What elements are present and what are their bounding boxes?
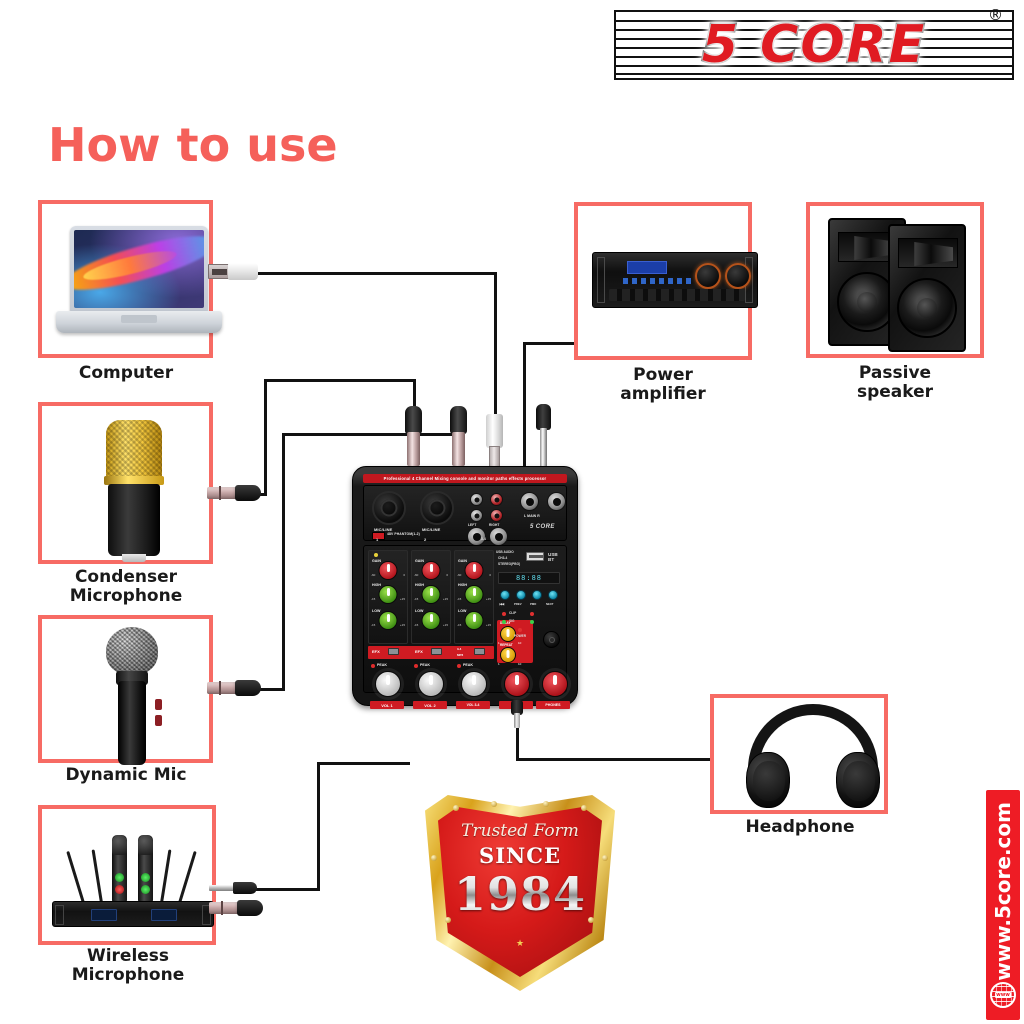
speaker-woofer-right (897, 278, 957, 338)
rca-jack-left[interactable] (470, 509, 483, 522)
label-main-out: L MAIN R (524, 514, 540, 518)
usb-button-label-2: PMD (530, 602, 536, 606)
website-url: www.5core.com (991, 802, 1015, 981)
usb-button-next[interactable] (548, 590, 558, 600)
wire-condenser-h2 (264, 379, 416, 382)
tick-low-max-2: +15 (443, 623, 448, 627)
device-box-condenser-microphone[interactable] (38, 402, 213, 564)
wire-dynamic-h2 (282, 433, 461, 436)
tick-high-min-2: -15 (414, 597, 418, 601)
tick-low-max-1: +15 (400, 623, 405, 627)
headphone-icon (740, 704, 886, 804)
badge-rivet-3 (543, 801, 549, 807)
usb-plug-shell (208, 264, 230, 279)
wire-wireless-v (317, 762, 320, 891)
input-jack-mic-line-2[interactable] (420, 491, 454, 525)
laptop-base (56, 311, 222, 333)
tick-high-max-3: +15 (486, 597, 491, 601)
xlr-v-barrel (452, 432, 465, 466)
label-high-3: HIGH (458, 583, 467, 587)
wire-condenser-drop (413, 379, 416, 407)
brand-logo: 5 CORE (614, 10, 1014, 80)
label-sig: SIG (509, 619, 515, 623)
xlr-barrel (207, 682, 237, 694)
usb-button-prev-track[interactable] (500, 590, 510, 600)
device-label-computer: Computer (11, 364, 241, 383)
trust-badge: Trusted Form SINCE 1984 ★ (425, 795, 615, 991)
device-box-power-amplifier[interactable] (574, 202, 752, 360)
label-high-2: HIGH (415, 583, 424, 587)
laptop-wallpaper (74, 230, 204, 308)
label-power: POWER (514, 634, 526, 638)
globe-www-icon (990, 982, 1016, 1008)
tick-high-min-1: -15 (371, 597, 375, 601)
tick-low-min-3: -15 (457, 623, 461, 627)
power-led (518, 628, 522, 632)
device-box-headphone[interactable] (710, 694, 888, 814)
knob-vol-2[interactable] (418, 671, 444, 697)
dynamic-mic-switch-2 (155, 715, 162, 726)
xlr-boot (235, 485, 261, 501)
tick-gain-max-2: 0 (446, 573, 448, 577)
xlr-connector-vertical-1 (405, 406, 422, 466)
tick-gain-max-1: 0 (403, 573, 405, 577)
power-amp-chassis (592, 252, 758, 308)
antenna-3 (160, 849, 171, 903)
amp-ear-left (597, 257, 605, 303)
device-box-computer[interactable] (38, 200, 213, 358)
mixer-input-panel: MIC/LINE MIC/LINE 48V PHANTOM(1-2) 1 2 L… (363, 485, 567, 541)
label-rca-channel: 3-4 (481, 537, 486, 541)
label-efx-2: EFX (415, 649, 423, 654)
knob-low-3[interactable] (465, 611, 484, 630)
wire-wireless-h2 (317, 762, 410, 765)
wire-amp-v (523, 342, 526, 470)
usb-v-body (486, 414, 503, 448)
efx-switch-3[interactable] (474, 648, 485, 655)
amp-knob-volume (725, 263, 751, 289)
usb-display: 88:88 (498, 572, 560, 584)
tick-high-max-2: +15 (443, 597, 448, 601)
device-label-condenser-microphone: Condenser Microphone (11, 568, 241, 606)
amp-knob-bass (695, 263, 721, 289)
usb-button-pmd[interactable] (532, 590, 542, 600)
label-usb-mode-1: CH3-4 (498, 556, 507, 560)
condenser-foot (122, 554, 146, 562)
phantom-power-switch[interactable] (372, 532, 385, 540)
condenser-mic-icon (90, 420, 176, 565)
device-box-wireless-microphone[interactable] (38, 805, 216, 945)
jack-v-boot (536, 404, 551, 430)
handheld-mic-2 (138, 835, 153, 903)
xlr-plug-dynamic-icon (207, 680, 261, 696)
wire-headphone-h (516, 758, 713, 761)
main-out-jack-right[interactable] (547, 492, 566, 511)
laptop-screen (70, 226, 208, 312)
channel-strip-1: GAIN -60 0 HIGH -15 +15 LOW -15 +15 (368, 550, 408, 644)
handheld-led-green-2 (141, 873, 150, 882)
rack-display-2 (151, 909, 177, 921)
label-usb-mode-2: STEREO(PBO) (498, 562, 520, 566)
antenna-2 (92, 849, 103, 903)
antenna-4 (178, 851, 197, 904)
usb-port[interactable] (526, 552, 544, 561)
logo-wordmark: 5 CORE (614, 10, 1014, 80)
knob-vol-1[interactable] (375, 671, 401, 697)
channel-strip-3-4: GAIN -60 0 HIGH -15 +15 LOW -15 +15 (454, 550, 494, 644)
xlr-boot (235, 680, 261, 696)
usb-a-plug-icon (208, 263, 258, 281)
tick-repeat-min: 1 (498, 662, 500, 666)
badge-rivet-4 (581, 805, 587, 811)
tick-gain-min-1: -60 (371, 573, 375, 577)
xlr-barrel (207, 487, 237, 499)
trs-jack-3-4-right[interactable] (489, 527, 508, 546)
tick-low-min-1: -15 (371, 623, 375, 627)
mixer-brand-plate: 5 CORE (530, 524, 555, 530)
ts-quarter-inch-plug-icon (209, 882, 257, 894)
usb-bluetooth-section: USB AUDIO CH3-4 STEREO(PBO) USB BT 88:88… (496, 550, 562, 644)
website-banner[interactable]: www.5core.com (986, 790, 1020, 1020)
handheld-led-green-3 (141, 885, 150, 894)
badge-since-text: SINCE (425, 843, 615, 868)
handheld-led-red-1 (115, 885, 124, 894)
usb-plug-body (228, 263, 258, 280)
knob-low-2[interactable] (422, 611, 441, 630)
dynamic-mic-switch (155, 699, 162, 710)
label-clip: CLIP (509, 611, 516, 615)
rack-display-1 (91, 909, 117, 921)
label-vol-3-4: VOL 3-4 (456, 701, 490, 709)
rca-jack-left-top[interactable] (470, 493, 483, 506)
xlr-barrel (209, 902, 239, 914)
xlr-plug-condenser-icon (207, 485, 261, 501)
power-amp-icon (592, 252, 758, 308)
xlr-v-barrel (407, 432, 420, 466)
ts-boot (233, 882, 257, 894)
mixer-control-panel: GAIN -60 0 HIGH -15 +15 LOW -15 +15 GAIN… (363, 545, 567, 693)
tick-low-min-2: -15 (414, 623, 418, 627)
page-title: How to use (48, 118, 338, 172)
phones-plug-tip (514, 713, 520, 728)
channel-1-led (374, 553, 378, 557)
device-label-dynamic-mic: Dynamic Mic (11, 766, 241, 785)
device-label-wireless-microphone: Wireless Microphone (13, 947, 243, 985)
dynamic-mic-icon (92, 627, 172, 767)
xlr-v-boot (405, 406, 422, 434)
wire-dynamic-v (282, 433, 285, 691)
badge-trusted-text: Trusted Form (425, 821, 615, 841)
knob-gain-3[interactable] (465, 561, 484, 580)
label-channel-1-number: 1 (376, 537, 378, 542)
label-high-1: HIGH (372, 583, 381, 587)
power-switch-knob[interactable] (543, 631, 560, 648)
mixer-console[interactable]: Professional 4 Channel Mixing console an… (352, 466, 578, 706)
clip-led-right (530, 612, 534, 616)
speaker-horn-right (898, 238, 958, 268)
usb-v-shell (489, 446, 500, 468)
label-gain-1: GAIN (372, 559, 381, 563)
label-vol-1: VOL 1 (370, 701, 404, 709)
usb-button-label-0: |◀◀ (499, 602, 504, 606)
infographic-canvas: 5 CORE ® How to use Computer (0, 0, 1024, 1024)
knob-high-2[interactable] (422, 585, 441, 604)
peak-led-3 (457, 664, 461, 668)
usb-button-label-3: NEXT (546, 602, 553, 606)
label-mic-line-2: MIC/LINE (422, 527, 440, 532)
xlr-v-boot (450, 406, 467, 434)
registered-trademark-icon: ® (988, 6, 1022, 24)
amp-lcd-display (627, 261, 667, 274)
peak-led-1 (371, 664, 375, 668)
label-vol-2: VOL 2 (413, 701, 447, 709)
xlr-plug-wireless-icon (209, 900, 263, 916)
handheld-led-green-1 (115, 873, 124, 882)
knob-gain-2[interactable] (422, 561, 441, 580)
tick-repeat-max: 10 (518, 662, 521, 666)
clip-led-left (502, 612, 506, 616)
label-phones: PHONES (536, 701, 570, 709)
xlr-connector-vertical-2 (450, 406, 467, 466)
amp-control-row (609, 289, 745, 301)
knob-main[interactable] (504, 671, 530, 697)
label-low-3: LOW (458, 609, 466, 613)
tick-high-min-3: -15 (457, 597, 461, 601)
label-efx-1: EFX (372, 649, 380, 654)
tick-gain-min-2: -60 (414, 573, 418, 577)
device-label-headphone: Headphone (685, 818, 915, 837)
tick-gain-min-3: -60 (457, 573, 461, 577)
ts-tip (209, 885, 235, 891)
condenser-grille (106, 420, 162, 478)
knob-high-3[interactable] (465, 585, 484, 604)
label-channel-2-number: 2 (424, 537, 426, 542)
wireless-mic-icon (48, 821, 218, 941)
label-ch34-option-2: MP3 (457, 653, 463, 657)
label-phantom-power: 48V PHANTOM(1-2) (387, 532, 420, 536)
mixer-tagline: Professional 4 Channel Mixing console an… (363, 474, 567, 483)
rca-jack-right[interactable] (490, 509, 503, 522)
knob-gain-1[interactable] (379, 561, 398, 580)
badge-rivet-1 (453, 805, 459, 811)
label-low-2: LOW (415, 609, 423, 613)
laptop-icon (56, 226, 222, 338)
device-box-dynamic-mic[interactable] (38, 615, 213, 763)
handheld-mic-1 (112, 835, 127, 903)
input-jack-mic-line-1[interactable] (372, 491, 406, 525)
badge-year-text: 1984 (425, 867, 615, 921)
badge-star-icon: ★ (425, 938, 615, 949)
handheld-grille-2 (138, 835, 153, 855)
headphone-earcup-right (836, 752, 880, 808)
usb-button-prev[interactable] (516, 590, 526, 600)
device-label-passive-speaker: Passive speaker (780, 364, 1010, 402)
knob-vol-3-4[interactable] (461, 671, 487, 697)
trs-3p5-plug-icon (511, 700, 523, 728)
xlr-boot (237, 900, 263, 916)
channel-strip-2: GAIN -60 0 HIGH -15 +15 LOW -15 +15 (411, 550, 451, 644)
speaker-icon-right (888, 224, 966, 352)
wireless-receiver-rack (52, 901, 214, 927)
label-gain-2: GAIN (415, 559, 424, 563)
laptop-trackpad (121, 315, 157, 323)
knob-low-1[interactable] (379, 611, 398, 630)
antenna-1 (66, 851, 85, 904)
label-usb-bt: USB BT (548, 552, 558, 562)
device-label-power-amplifier: Power amplifier (548, 366, 778, 404)
knob-phones[interactable] (542, 671, 568, 697)
knob-high-1[interactable] (379, 585, 398, 604)
rca-jack-right-top[interactable] (490, 493, 503, 506)
label-peak-3: PEAK (463, 663, 473, 667)
label-low-1: LOW (372, 609, 380, 613)
sig-led-right (530, 620, 534, 624)
label-gain-3: GAIN (458, 559, 467, 563)
tick-gain-max-3: 0 (489, 573, 491, 577)
handheld-grille-1 (112, 835, 127, 855)
knob-repeat[interactable] (500, 647, 516, 663)
badge-rivet-2 (491, 801, 497, 807)
dynamic-mic-body (118, 681, 146, 765)
device-box-passive-speaker[interactable] (806, 202, 984, 358)
efx-switch-2[interactable] (431, 648, 442, 655)
jack-v-tip (540, 428, 547, 470)
headphone-earcup-left (746, 752, 790, 808)
label-ch34-option-1: 3-4 (457, 647, 461, 651)
wire-condenser-v (264, 379, 267, 495)
sig-led-left (502, 620, 506, 624)
main-out-jack-left[interactable] (520, 492, 539, 511)
label-peak-1: PEAK (377, 663, 387, 667)
ts-connector-vertical (536, 404, 551, 470)
usb-connector-vertical (486, 414, 503, 468)
rack-ear-left (55, 905, 64, 925)
peak-led-2 (414, 664, 418, 668)
usb-button-label-1: PREV (514, 602, 522, 606)
label-usb-audio: USB AUDIO (496, 550, 514, 554)
tick-high-max-1: +15 (400, 597, 405, 601)
amp-led-row (623, 278, 695, 284)
label-peak-2: PEAK (420, 663, 430, 667)
tick-low-max-3: +15 (486, 623, 491, 627)
dynamic-mic-head (106, 627, 158, 675)
condenser-body (108, 484, 160, 556)
efx-switch-1[interactable] (388, 648, 399, 655)
